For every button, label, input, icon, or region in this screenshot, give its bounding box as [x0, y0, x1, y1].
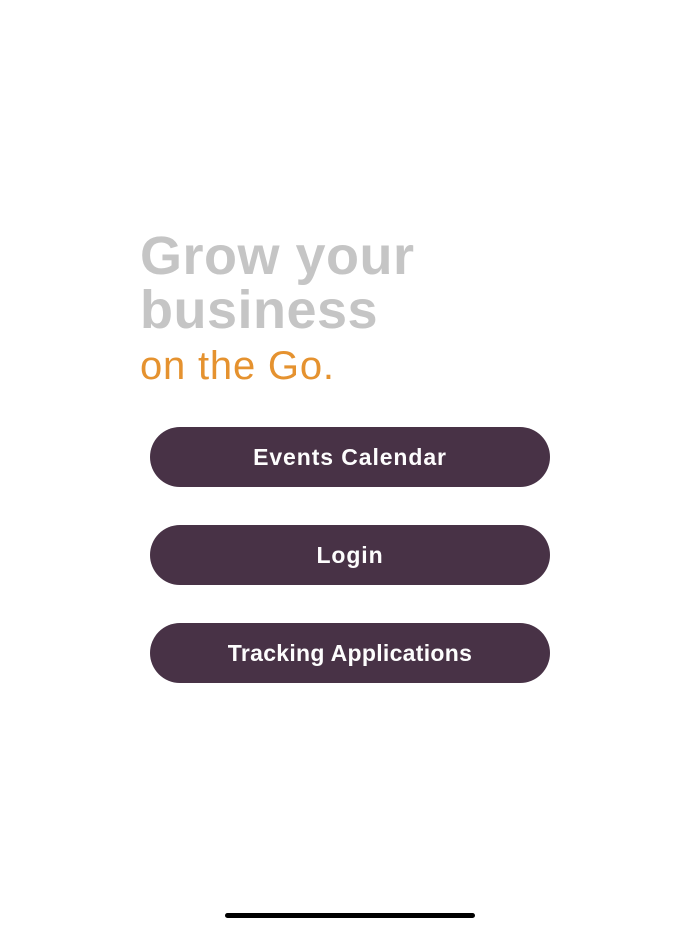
subheadline: on the Go.	[140, 342, 570, 390]
home-indicator[interactable]	[225, 913, 475, 918]
headline-line-1: Grow your	[140, 228, 570, 284]
tracking-applications-button[interactable]: Tracking Applications	[150, 623, 550, 683]
primary-action-list: Events Calendar Login Tracking Applicati…	[150, 427, 550, 683]
hero-text-block: Grow your business on the Go.	[140, 228, 570, 390]
headline-line-2: business	[140, 282, 570, 338]
app-screen: Grow your business on the Go. Events Cal…	[0, 0, 700, 934]
login-button[interactable]: Login	[150, 525, 550, 585]
events-calendar-button[interactable]: Events Calendar	[150, 427, 550, 487]
